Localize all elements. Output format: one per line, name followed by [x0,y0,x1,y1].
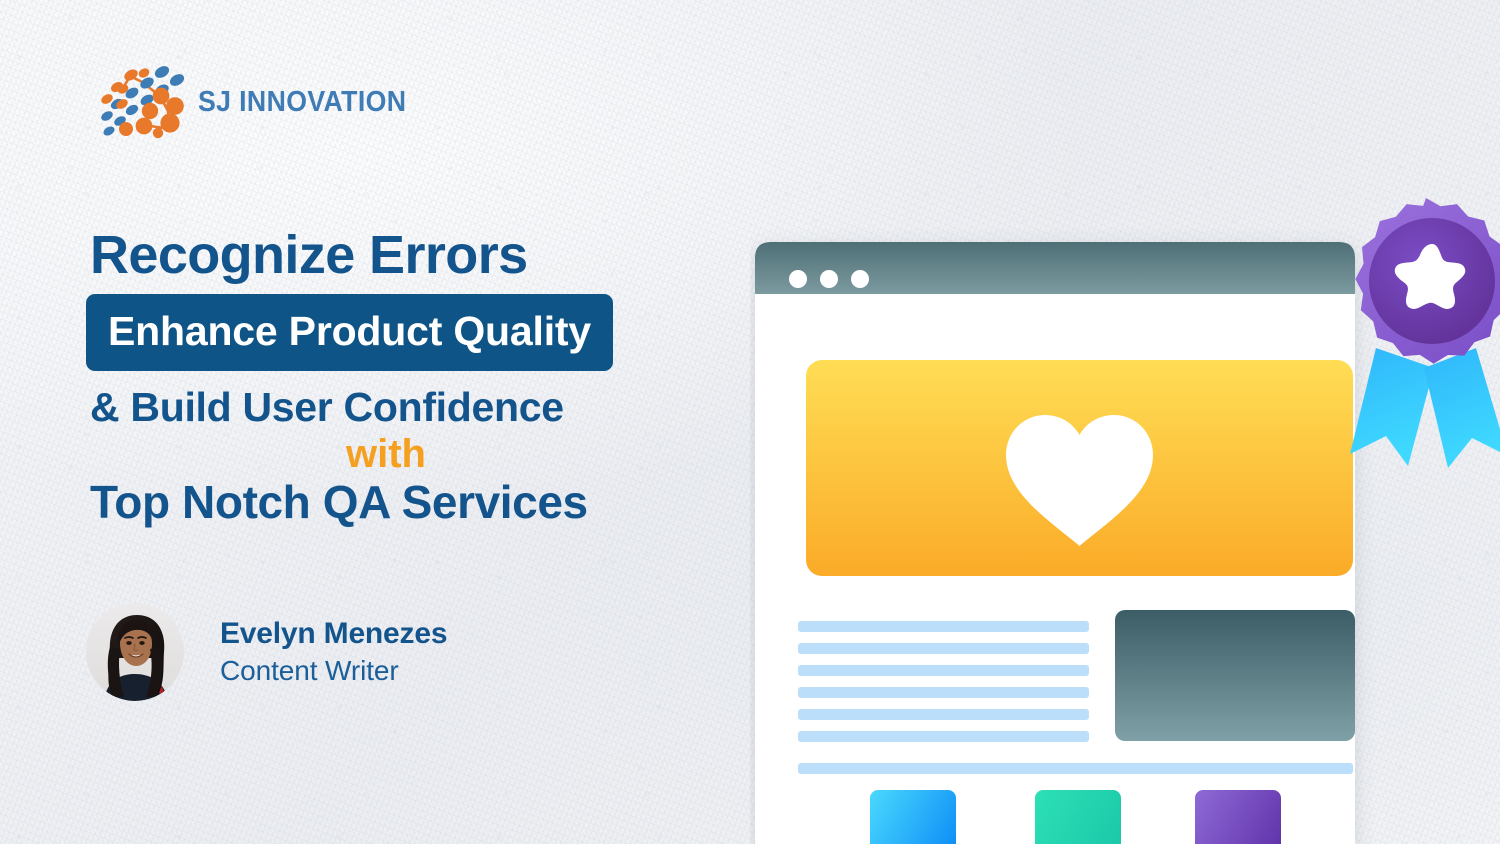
ribbon-left [1350,348,1434,466]
text-line [798,621,1089,632]
brand-logo[interactable]: SJ INNOVATION [98,63,348,141]
text-line [798,643,1089,654]
headline-line-5: Top Notch QA Services [86,479,766,525]
award-badge [1350,198,1500,468]
text-line-full [798,763,1353,774]
browser-titlebar [755,242,1355,294]
color-swatches [870,790,1281,844]
headline-with-word: with [86,432,686,477]
author-text: Evelyn Menezes Content Writer [220,617,447,687]
hero-card [806,360,1353,576]
text-line [798,709,1089,720]
badge-medal [1355,198,1500,364]
brand-wordmark: SJ INNOVATION [198,86,406,119]
author-name: Evelyn Menezes [220,617,447,651]
headline-highlight-band: Enhance Product Quality [86,294,613,371]
badge-ribbons [1350,348,1500,468]
window-dots [789,270,869,288]
sj-innovation-dot-grid-logo [98,63,186,141]
headline-block: Recognize Errors Enhance Product Quality… [86,228,766,525]
ribbon-right [1424,348,1500,468]
author-role: Content Writer [220,655,447,687]
text-line [798,731,1089,742]
swatch-purple [1195,790,1281,844]
text-line [798,665,1089,676]
window-dot-2 [820,270,838,288]
author-avatar-photo [86,603,184,701]
swatch-blue [870,790,956,844]
swatch-teal [1035,790,1121,844]
author-block: Evelyn Menezes Content Writer [86,603,447,701]
window-dot-1 [789,270,807,288]
headline-line-3: & Build User Confidence [86,387,766,428]
browser-window-mockup [750,180,1500,844]
text-line [798,687,1089,698]
image-block [1115,610,1355,741]
window-dot-3 [851,270,869,288]
headline-line-1: Recognize Errors [86,228,766,282]
